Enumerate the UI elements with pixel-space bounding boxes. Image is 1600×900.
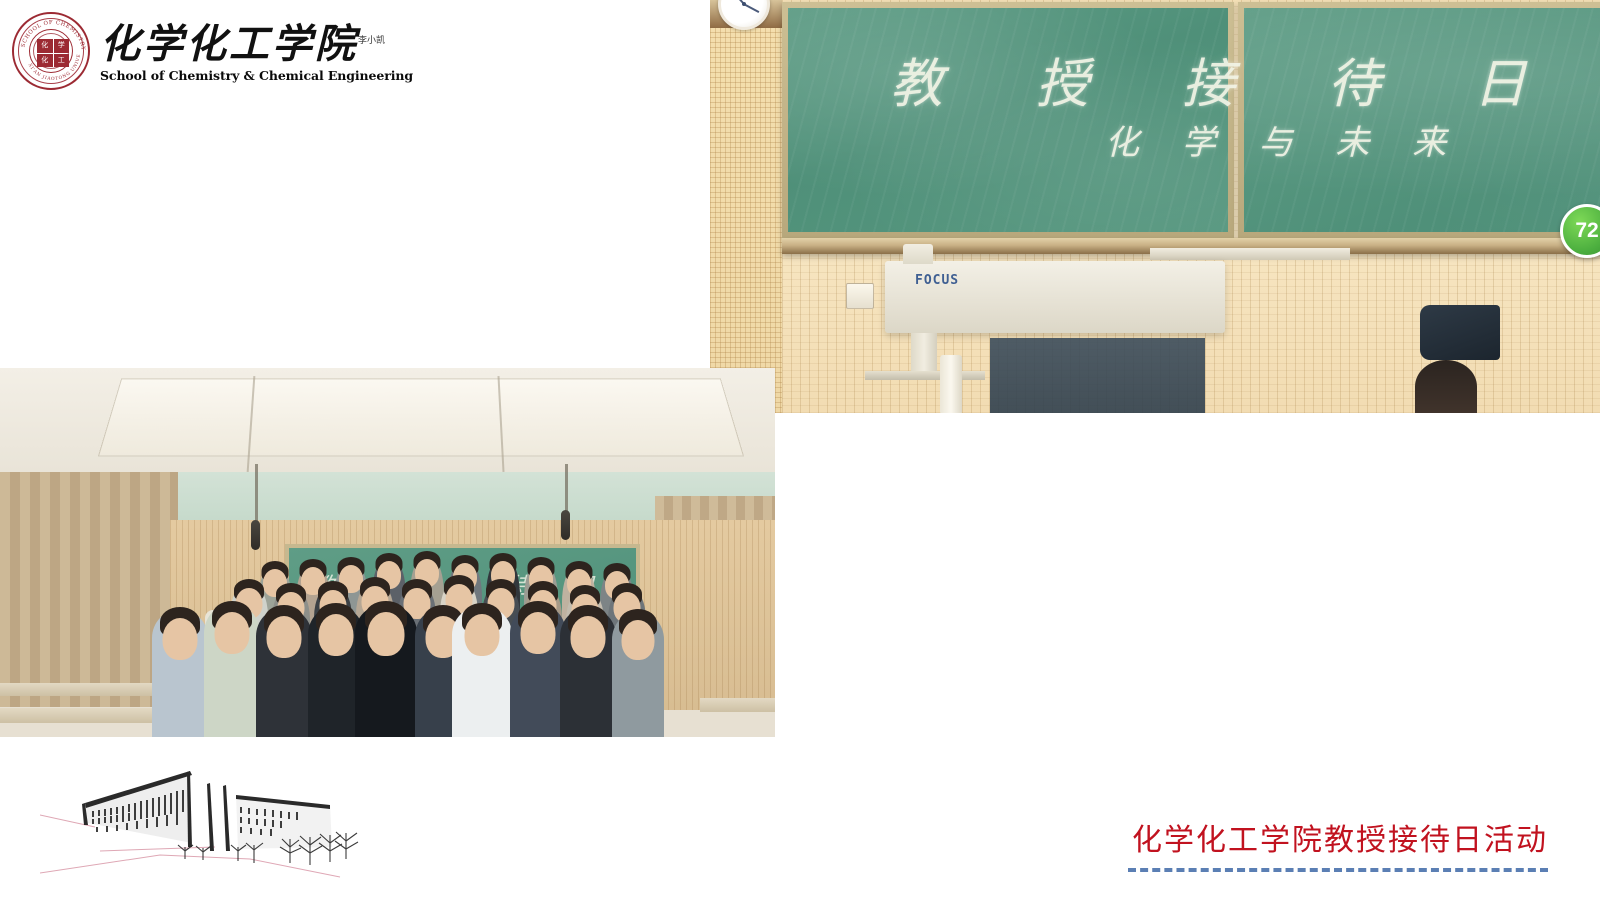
dark-display-panel	[990, 338, 1205, 413]
clock-center-dot	[742, 2, 746, 6]
projector-brand-label: FOCUS	[915, 273, 959, 288]
blackboard-title-text: 教 授 接 待 日	[890, 42, 1564, 118]
photo-lecture: 教 授 接 待 日 化 学 与 未 来 ——化学化工学院 化学类1801 FOC…	[710, 0, 1600, 413]
student-desk-row	[700, 698, 775, 712]
group-person	[152, 610, 208, 737]
thermos-bottle	[940, 355, 962, 413]
seal-center-characters: 化 学 化 工	[37, 39, 69, 67]
caption-underline-rule	[1128, 868, 1548, 872]
projector-stem	[911, 333, 937, 375]
group-person	[204, 604, 260, 737]
logo-title-signature: 李小凯	[358, 36, 385, 46]
group-person	[612, 612, 664, 737]
backpack	[1420, 305, 1500, 360]
shelf-board	[1150, 248, 1350, 260]
logo-text-block: 化学化工学院李小凯 School of Chemistry & Chemical…	[100, 18, 413, 84]
blackboard-subtitle-text: 化 学 与 未 来	[1105, 115, 1462, 164]
group-person-professor	[355, 604, 417, 737]
group-person	[256, 608, 312, 737]
group-person	[560, 608, 616, 737]
projector-base	[865, 371, 985, 380]
ceiling-panel	[98, 378, 744, 456]
foreground-student-head	[1415, 360, 1477, 413]
seal-char-2: 化	[37, 54, 53, 68]
header-logo: SCHOOL OF CHEMISTRY & CHEMICAL ENGINEERI…	[12, 8, 372, 94]
photo-group: 教 授 接 待 日	[0, 368, 775, 737]
logo-title-english: School of Chemistry & Chemical Engineeri…	[100, 68, 413, 84]
seal-char-0: 化	[37, 39, 53, 53]
clock-minute-hand	[744, 3, 760, 12]
group-person	[510, 604, 566, 737]
slide-caption: 化学化工学院教授接待日活动	[1128, 822, 1548, 872]
wall-outlet-icon	[846, 283, 874, 309]
classroom-side-wall	[710, 0, 782, 413]
logo-title-chinese: 化学化工学院李小凯	[100, 18, 413, 67]
seal-char-3: 工	[54, 54, 70, 68]
hanging-microphone	[251, 520, 260, 550]
logo-title-chinese-main: 化学化工学院	[100, 20, 358, 67]
hanging-microphone	[561, 510, 570, 540]
overhead-projector: FOCUS	[885, 261, 1225, 333]
caption-text: 化学化工学院教授接待日活动	[1128, 822, 1548, 860]
campus-building-sketch	[40, 755, 370, 890]
microphone-cable	[565, 464, 568, 516]
projector-lens-head	[903, 244, 933, 264]
group-person	[452, 606, 512, 737]
university-seal-icon: SCHOOL OF CHEMISTRY & CHEMICAL ENGINEERI…	[12, 12, 90, 90]
microphone-cable	[255, 464, 258, 526]
seal-char-1: 学	[54, 39, 70, 53]
